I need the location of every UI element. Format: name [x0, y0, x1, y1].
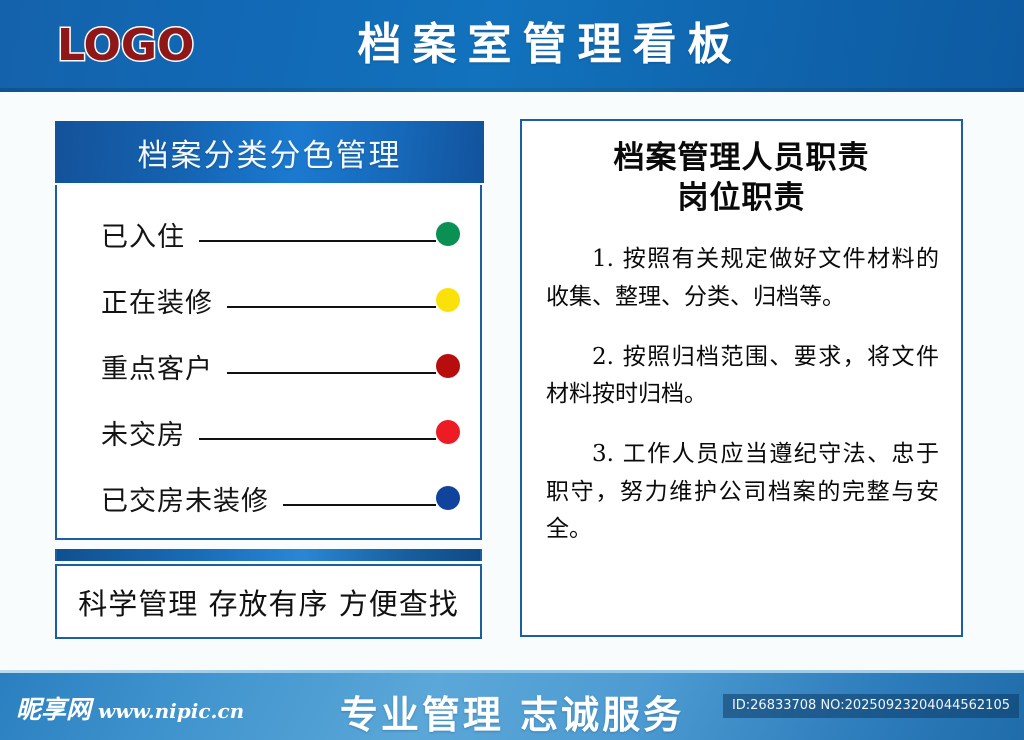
asset-id-badge: ID:26833708 NO:20250923204044562105 [723, 694, 1019, 718]
content-area: 档案分类分色管理 已入住 正在装修 重点客户 [0, 92, 1024, 670]
logo: LOGO [57, 24, 194, 68]
footer-banner: 昵享网 www.nipic.cn 专业管理 志诚服务 ID:26833708 N… [0, 670, 1024, 740]
duty-item: 2. 按照归档范围、要求，将文件材料按时归档。 [546, 339, 939, 414]
legend-color-dot-green [436, 222, 460, 246]
legend-label: 未交房 [101, 413, 185, 452]
classification-panel-title: 档案分类分色管理 [138, 130, 402, 175]
legend-label: 重点客户 [101, 347, 213, 386]
page-title: 档案室管理看板 [270, 22, 830, 68]
classification-panel: 档案分类分色管理 已入住 正在装修 重点客户 [55, 121, 484, 639]
panel-slogan: 科学管理 存放有序 方便查找 [78, 581, 458, 623]
legend-rule [199, 438, 436, 440]
duties-title-primary: 档案管理人员职责 [522, 139, 961, 179]
legend-box: 已入住 正在装修 重点客户 未交房 [55, 185, 482, 540]
header-banner: LOGO 档案室管理看板 [0, 0, 1024, 92]
legend-label: 已交房未装修 [101, 479, 269, 518]
classification-panel-header: 档案分类分色管理 [55, 121, 484, 183]
legend-rule [199, 240, 436, 242]
duties-list: 1. 按照有关规定做好文件材料的收集、整理、分类、归档等。 2. 按照归档范围、… [522, 241, 961, 548]
legend-row: 正在装修 [57, 267, 480, 333]
slogan-box: 科学管理 存放有序 方便查找 [55, 564, 482, 639]
legend-rule [283, 504, 436, 506]
legend-rule [227, 372, 436, 374]
duties-title-secondary: 岗位职责 [522, 179, 961, 219]
legend-row: 重点客户 [57, 333, 480, 399]
legend-list: 已入住 正在装修 重点客户 未交房 [57, 185, 480, 538]
legend-color-dot-yellow [436, 288, 460, 312]
legend-rule [227, 306, 436, 308]
duty-item: 1. 按照有关规定做好文件材料的收集、整理、分类、归档等。 [546, 241, 939, 316]
duties-title-group: 档案管理人员职责 岗位职责 [522, 121, 961, 218]
legend-row: 已交房未装修 [57, 465, 480, 531]
legend-color-dot-darkred [436, 354, 460, 378]
duties-panel: 档案管理人员职责 岗位职责 1. 按照有关规定做好文件材料的收集、整理、分类、归… [520, 119, 963, 637]
legend-color-dot-red [436, 420, 460, 444]
legend-row: 已入住 [57, 201, 480, 267]
legend-row: 未交房 [57, 399, 480, 465]
legend-color-dot-blue [436, 486, 460, 510]
poster-canvas: LOGO 档案室管理看板 档案分类分色管理 已入住 正在装修 [0, 0, 1024, 740]
panel-divider-bar [55, 549, 482, 561]
legend-label: 已入住 [101, 215, 185, 254]
duty-item: 3. 工作人员应当遵纪守法、忠于职守，努力维护公司档案的完整与安全。 [546, 436, 939, 548]
legend-label: 正在装修 [101, 281, 213, 320]
